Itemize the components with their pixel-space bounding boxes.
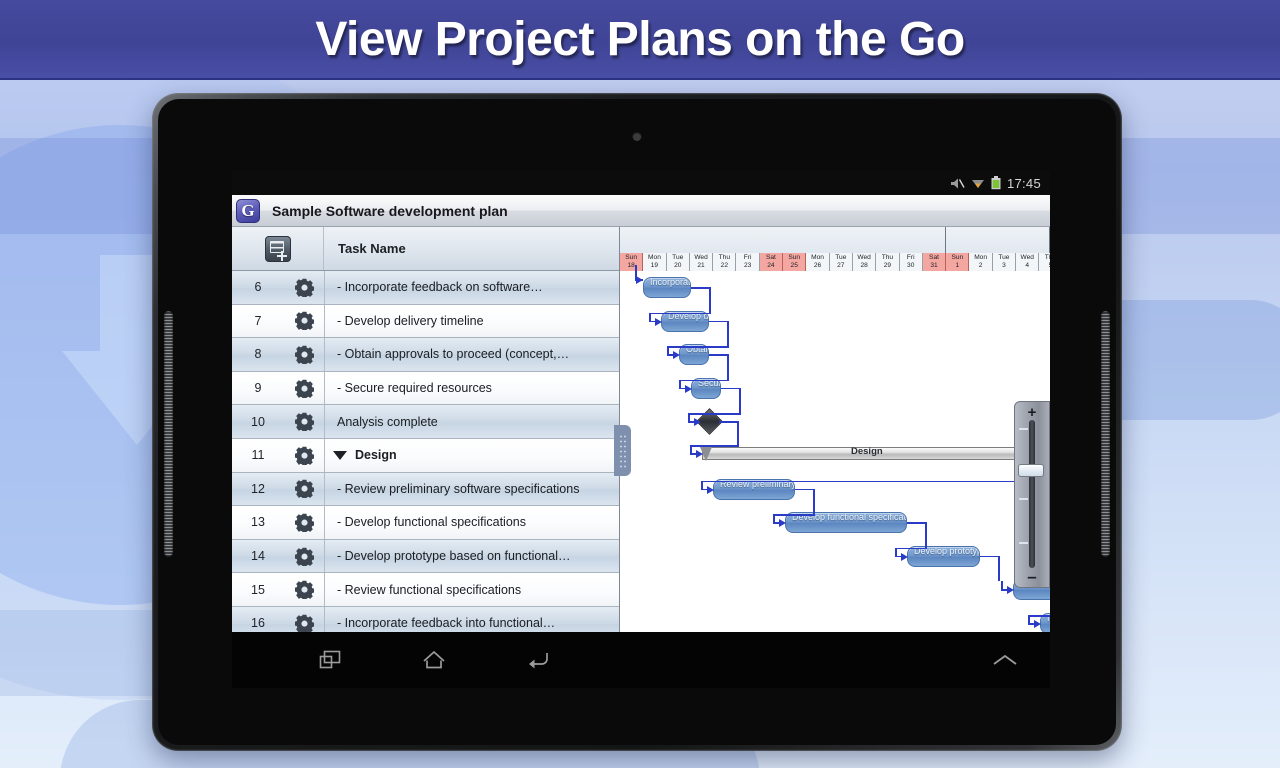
gear-icon[interactable]: [295, 479, 314, 498]
timeline-day-cell: Sun25: [783, 253, 806, 271]
app-title-bar: G Sample Software development plan: [232, 195, 1050, 227]
speaker-grille-right: [1101, 311, 1110, 557]
project-title: Sample Software development plan: [272, 203, 508, 219]
task-grid-header: Task Name: [232, 227, 619, 271]
task-grid-panel: Task Name 6- Incorporate feedback on sof…: [232, 227, 620, 688]
task-name-cell[interactable]: - Obtain approvals to proceed (concept,…: [324, 338, 619, 371]
task-name-cell[interactable]: - Develop delivery timeline: [324, 305, 619, 338]
task-name-cell[interactable]: - Develop prototype based on functional…: [324, 540, 619, 573]
timeline-day-cell: Sun1: [946, 253, 969, 271]
task-settings-cell[interactable]: [284, 479, 324, 498]
task-name-cell[interactable]: - Review functional specifications: [324, 573, 619, 606]
dependency-link: [649, 313, 711, 315]
task-id-cell: 7: [232, 314, 284, 328]
task-settings-cell[interactable]: [284, 278, 324, 297]
dependency-link: [709, 321, 727, 323]
gantt-day-row: Sun18Mon19Tue20Wed21Thu22Fri23Sat24Sun25…: [620, 253, 1050, 271]
timeline-day-cell: Mon19: [643, 253, 666, 271]
gantt-timeline-header: Sun18Mon19Tue20Wed21Thu22Fri23Sat24Sun25…: [620, 227, 1050, 271]
gear-icon[interactable]: [295, 614, 314, 633]
timeline-day-cell: Tue27: [830, 253, 853, 271]
dependency-link: [813, 489, 815, 515]
dependency-link: [709, 287, 711, 313]
timeline-day-cell: Tue3: [993, 253, 1016, 271]
task-name-label: - Obtain approvals to proceed (concept,…: [337, 347, 569, 361]
status-bar-clock: 17:45: [1007, 176, 1041, 191]
table-row[interactable]: 12- Review preliminary software specific…: [232, 473, 619, 507]
dependency-link: [980, 556, 998, 558]
tablet-screen: 17:45 G Sample Software development plan: [232, 171, 1050, 688]
gear-icon[interactable]: [295, 580, 314, 599]
dependency-link: [773, 514, 815, 516]
task-name-cell[interactable]: - Develop functional specifications: [324, 506, 619, 539]
back-button[interactable]: [486, 650, 590, 670]
zoom-in-button[interactable]: +: [1028, 405, 1037, 420]
recents-button[interactable]: [278, 650, 382, 670]
task-settings-cell[interactable]: [284, 379, 324, 398]
add-task-row-cell[interactable]: [232, 227, 324, 270]
zoom-tick: [1019, 428, 1028, 430]
task-name-cell[interactable]: Analysis complete: [324, 405, 619, 438]
dependency-arrow-icon: [696, 450, 703, 458]
page-root: View Project Plans on the Go: [0, 0, 1280, 768]
dependency-arrow-icon: [694, 418, 701, 426]
dependency-arrow-icon: [1007, 586, 1014, 594]
zoom-out-button[interactable]: –: [1027, 568, 1036, 585]
timeline-day-cell: Thu5: [1039, 253, 1050, 271]
dependency-arrow-icon: [673, 351, 680, 359]
dependency-link: [709, 354, 727, 356]
android-navigation-bar: [232, 632, 1050, 688]
gantt-canvas[interactable]: Incorporate feedback on softwareDevelop …: [620, 271, 1050, 688]
task-settings-cell[interactable]: [284, 513, 324, 532]
dependency-link: [895, 548, 897, 556]
mute-icon: [950, 177, 965, 190]
dependency-arrow-icon: [685, 385, 692, 393]
timeline-day-cell: Sat24: [760, 253, 783, 271]
gantt-month-row: [620, 227, 1050, 253]
gantt-app-logo-icon[interactable]: G: [236, 199, 260, 223]
dependency-link: [667, 346, 729, 348]
zoom-slider-thumb[interactable]: [1018, 464, 1044, 477]
battery-icon: [991, 176, 1001, 190]
dependency-arrow-icon: [636, 276, 643, 284]
dependency-link: [895, 548, 927, 550]
dependency-link: [701, 481, 1050, 483]
recents-icon: [319, 650, 341, 670]
dependency-link: [1028, 615, 1030, 623]
task-grid-rows: 6- Incorporate feedback on software…7- D…: [232, 271, 619, 688]
gear-icon[interactable]: [295, 278, 314, 297]
dependency-link: [691, 287, 709, 289]
home-icon: [422, 650, 446, 670]
dependency-link: [679, 380, 729, 382]
dependency-link: [727, 354, 729, 380]
task-name-label: - Incorporate feedback into functional…: [337, 616, 555, 630]
panel-splitter-handle[interactable]: [614, 425, 631, 476]
gantt-summary-label: Design: [851, 446, 883, 457]
banner-title: View Project Plans on the Go: [315, 12, 964, 67]
tablet-device-mockup: 17:45 G Sample Software development plan: [152, 93, 1122, 751]
dependency-link: [667, 346, 669, 354]
dependency-link: [1028, 615, 1050, 617]
column-header-task-name[interactable]: Task Name: [324, 227, 619, 270]
splitter-grip-icon: [619, 434, 627, 468]
gear-icon[interactable]: [295, 311, 314, 330]
dependency-link: [1001, 581, 1003, 589]
task-name-cell[interactable]: - Secure required resources: [324, 372, 619, 405]
table-row[interactable]: 6- Incorporate feedback on software…: [232, 271, 619, 305]
dependency-link: [649, 313, 651, 321]
table-row[interactable]: 11Design: [232, 439, 619, 473]
timeline-day-cell: Wed4: [1016, 253, 1039, 271]
table-row[interactable]: 14- Develop prototype based on functiona…: [232, 540, 619, 574]
dependency-link: [679, 380, 681, 388]
dependency-link: [727, 321, 729, 347]
timeline-day-cell: Tue20: [667, 253, 690, 271]
timeline-day-cell: Wed28: [853, 253, 876, 271]
dependency-arrow-icon: [707, 486, 714, 494]
task-id-cell: 13: [232, 515, 284, 529]
task-id-cell: 11: [232, 448, 284, 462]
dependency-arrow-icon: [779, 519, 786, 527]
zoom-tick: [1019, 542, 1028, 544]
collapse-button[interactable]: [960, 653, 1050, 667]
task-id-cell: 16: [232, 616, 284, 630]
task-name-cell[interactable]: Design: [324, 439, 619, 472]
gantt-task-bar[interactable]: Incorporate feedback on software: [643, 277, 691, 298]
zoom-tick: [1019, 498, 1028, 500]
back-icon: [526, 650, 550, 670]
task-name-label: - Review preliminary software specificat…: [337, 482, 579, 496]
gear-icon[interactable]: [295, 379, 314, 398]
task-settings-cell[interactable]: [284, 345, 324, 364]
month-cell: [946, 227, 1050, 253]
task-name-label: - Incorporate feedback on software…: [337, 280, 543, 294]
task-name-label: Design: [355, 448, 397, 462]
task-settings-cell[interactable]: [284, 446, 324, 465]
table-row[interactable]: 15- Review functional specifications: [232, 573, 619, 607]
task-name-label: - Develop delivery timeline: [337, 314, 484, 328]
home-button[interactable]: [382, 650, 486, 670]
task-name-label: Analysis complete: [337, 415, 438, 429]
task-settings-cell[interactable]: [284, 547, 324, 566]
wifi-icon: [971, 177, 985, 189]
gear-icon[interactable]: [295, 547, 314, 566]
timeline-day-cell: Wed21: [690, 253, 713, 271]
table-row[interactable]: 7- Develop delivery timeline: [232, 305, 619, 339]
dependency-link: [795, 489, 813, 491]
month-cell: [620, 227, 946, 253]
add-task-row-icon[interactable]: [265, 236, 291, 262]
zoom-slider-rail: [1029, 420, 1035, 568]
timeline-day-cell: Sat31: [923, 253, 946, 271]
task-settings-cell[interactable]: [284, 580, 324, 599]
dependency-link: [737, 421, 739, 445]
collapse-triangle-icon[interactable]: [333, 451, 347, 460]
task-name-cell[interactable]: - Incorporate feedback on software…: [324, 271, 619, 304]
dependency-link: [907, 522, 925, 524]
dependency-arrow-icon: [1034, 620, 1041, 628]
task-name-cell[interactable]: - Review preliminary software specificat…: [324, 473, 619, 506]
dependency-arrow-icon: [655, 318, 662, 326]
dependency-link: [739, 388, 741, 414]
dependency-link: [719, 421, 737, 423]
timeline-day-cell: Mon26: [806, 253, 829, 271]
gear-icon[interactable]: [295, 513, 314, 532]
table-row[interactable]: 10Analysis complete: [232, 405, 619, 439]
table-row[interactable]: 13- Develop functional specifications: [232, 506, 619, 540]
task-name-label: - Secure required resources: [337, 381, 492, 395]
dependency-link: [690, 445, 692, 453]
task-id-cell: 6: [232, 280, 284, 294]
gear-icon[interactable]: [295, 345, 314, 364]
dependency-link: [773, 514, 775, 522]
task-name-label: - Develop functional specifications: [337, 515, 526, 529]
task-id-cell: 9: [232, 381, 284, 395]
timeline-day-cell: Mon2: [969, 253, 992, 271]
dependency-link: [688, 413, 690, 421]
task-settings-cell[interactable]: [284, 311, 324, 330]
task-settings-cell[interactable]: [284, 412, 324, 431]
android-status-bar: 17:45: [232, 171, 1050, 195]
zoom-slider[interactable]: + –: [1014, 401, 1050, 588]
task-settings-cell[interactable]: [284, 614, 324, 633]
timeline-day-cell: Fri30: [900, 253, 923, 271]
timeline-day-cell: Thu29: [876, 253, 899, 271]
task-id-cell: 14: [232, 549, 284, 563]
speaker-grille-left: [164, 311, 173, 557]
chevron-up-icon: [992, 653, 1018, 667]
timeline-day-cell: Fri23: [736, 253, 759, 271]
task-name-label: - Review functional specifications: [337, 583, 521, 597]
table-row[interactable]: 8- Obtain approvals to proceed (concept,…: [232, 338, 619, 372]
dependency-arrow-icon: [901, 553, 908, 561]
gear-icon[interactable]: [295, 446, 314, 465]
task-id-cell: 8: [232, 347, 284, 361]
dependency-link: [721, 388, 739, 390]
tablet-bezel: 17:45 G Sample Software development plan: [158, 99, 1116, 745]
gantt-chart-panel[interactable]: Sun18Mon19Tue20Wed21Thu22Fri23Sat24Sun25…: [620, 227, 1050, 688]
dependency-link: [925, 522, 927, 548]
promo-banner: View Project Plans on the Go: [0, 0, 1280, 80]
dependency-link: [690, 445, 739, 447]
table-row[interactable]: 9- Secure required resources: [232, 372, 619, 406]
dependency-link: [701, 481, 703, 489]
timeline-day-cell: Sun18: [620, 253, 643, 271]
timeline-day-cell: Thu22: [713, 253, 736, 271]
gear-icon[interactable]: [295, 412, 314, 431]
task-id-cell: 15: [232, 583, 284, 597]
task-name-label: - Develop prototype based on functional…: [337, 549, 570, 563]
dependency-link: [688, 413, 741, 415]
gantt-bar-label: Incorporate feedback on software: [650, 277, 691, 287]
task-id-cell: 10: [232, 415, 284, 429]
task-id-cell: 12: [232, 482, 284, 496]
front-camera-icon: [633, 132, 642, 141]
zoom-slider-track[interactable]: [1015, 420, 1049, 568]
work-area: Task Name 6- Incorporate feedback on sof…: [232, 227, 1050, 688]
dependency-link: [998, 556, 1000, 582]
